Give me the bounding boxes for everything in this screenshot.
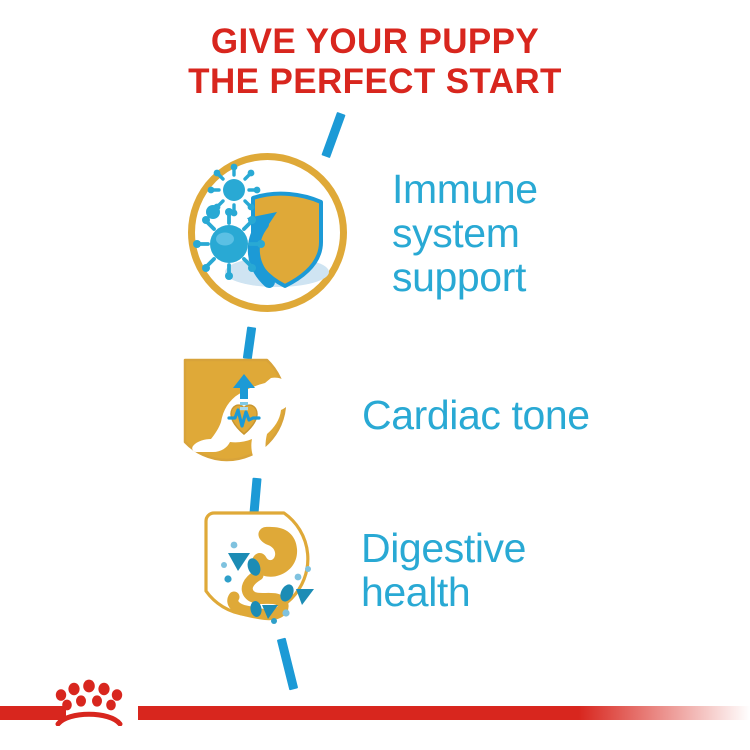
promo-canvas: GIVE YOUR PUPPY THE PERFECT START bbox=[0, 0, 750, 750]
headline-line-1: GIVE YOUR PUPPY bbox=[0, 22, 750, 62]
headline-line-2: THE PERFECT START bbox=[0, 62, 750, 102]
feature-row-immune: Immune system support bbox=[0, 150, 750, 315]
page-title: GIVE YOUR PUPPY THE PERFECT START bbox=[0, 22, 750, 102]
royal-canin-crown-logo bbox=[54, 678, 124, 726]
digestive-stomach-icon bbox=[198, 505, 333, 635]
footer-bar-right bbox=[138, 706, 750, 720]
feature-label-cardiac: Cardiac tone bbox=[362, 393, 590, 437]
cardiac-dog-heart-icon bbox=[175, 352, 310, 477]
feature-row-cardiac: Cardiac tone bbox=[0, 352, 750, 477]
germ-large bbox=[193, 208, 265, 280]
feature-row-digestive: Digestive health bbox=[0, 505, 750, 635]
feature-label-immune: Immune system support bbox=[392, 167, 538, 299]
feature-label-digestive: Digestive health bbox=[361, 526, 526, 614]
immune-shield-icon bbox=[185, 150, 350, 315]
connector-dash-bottom bbox=[277, 638, 298, 691]
